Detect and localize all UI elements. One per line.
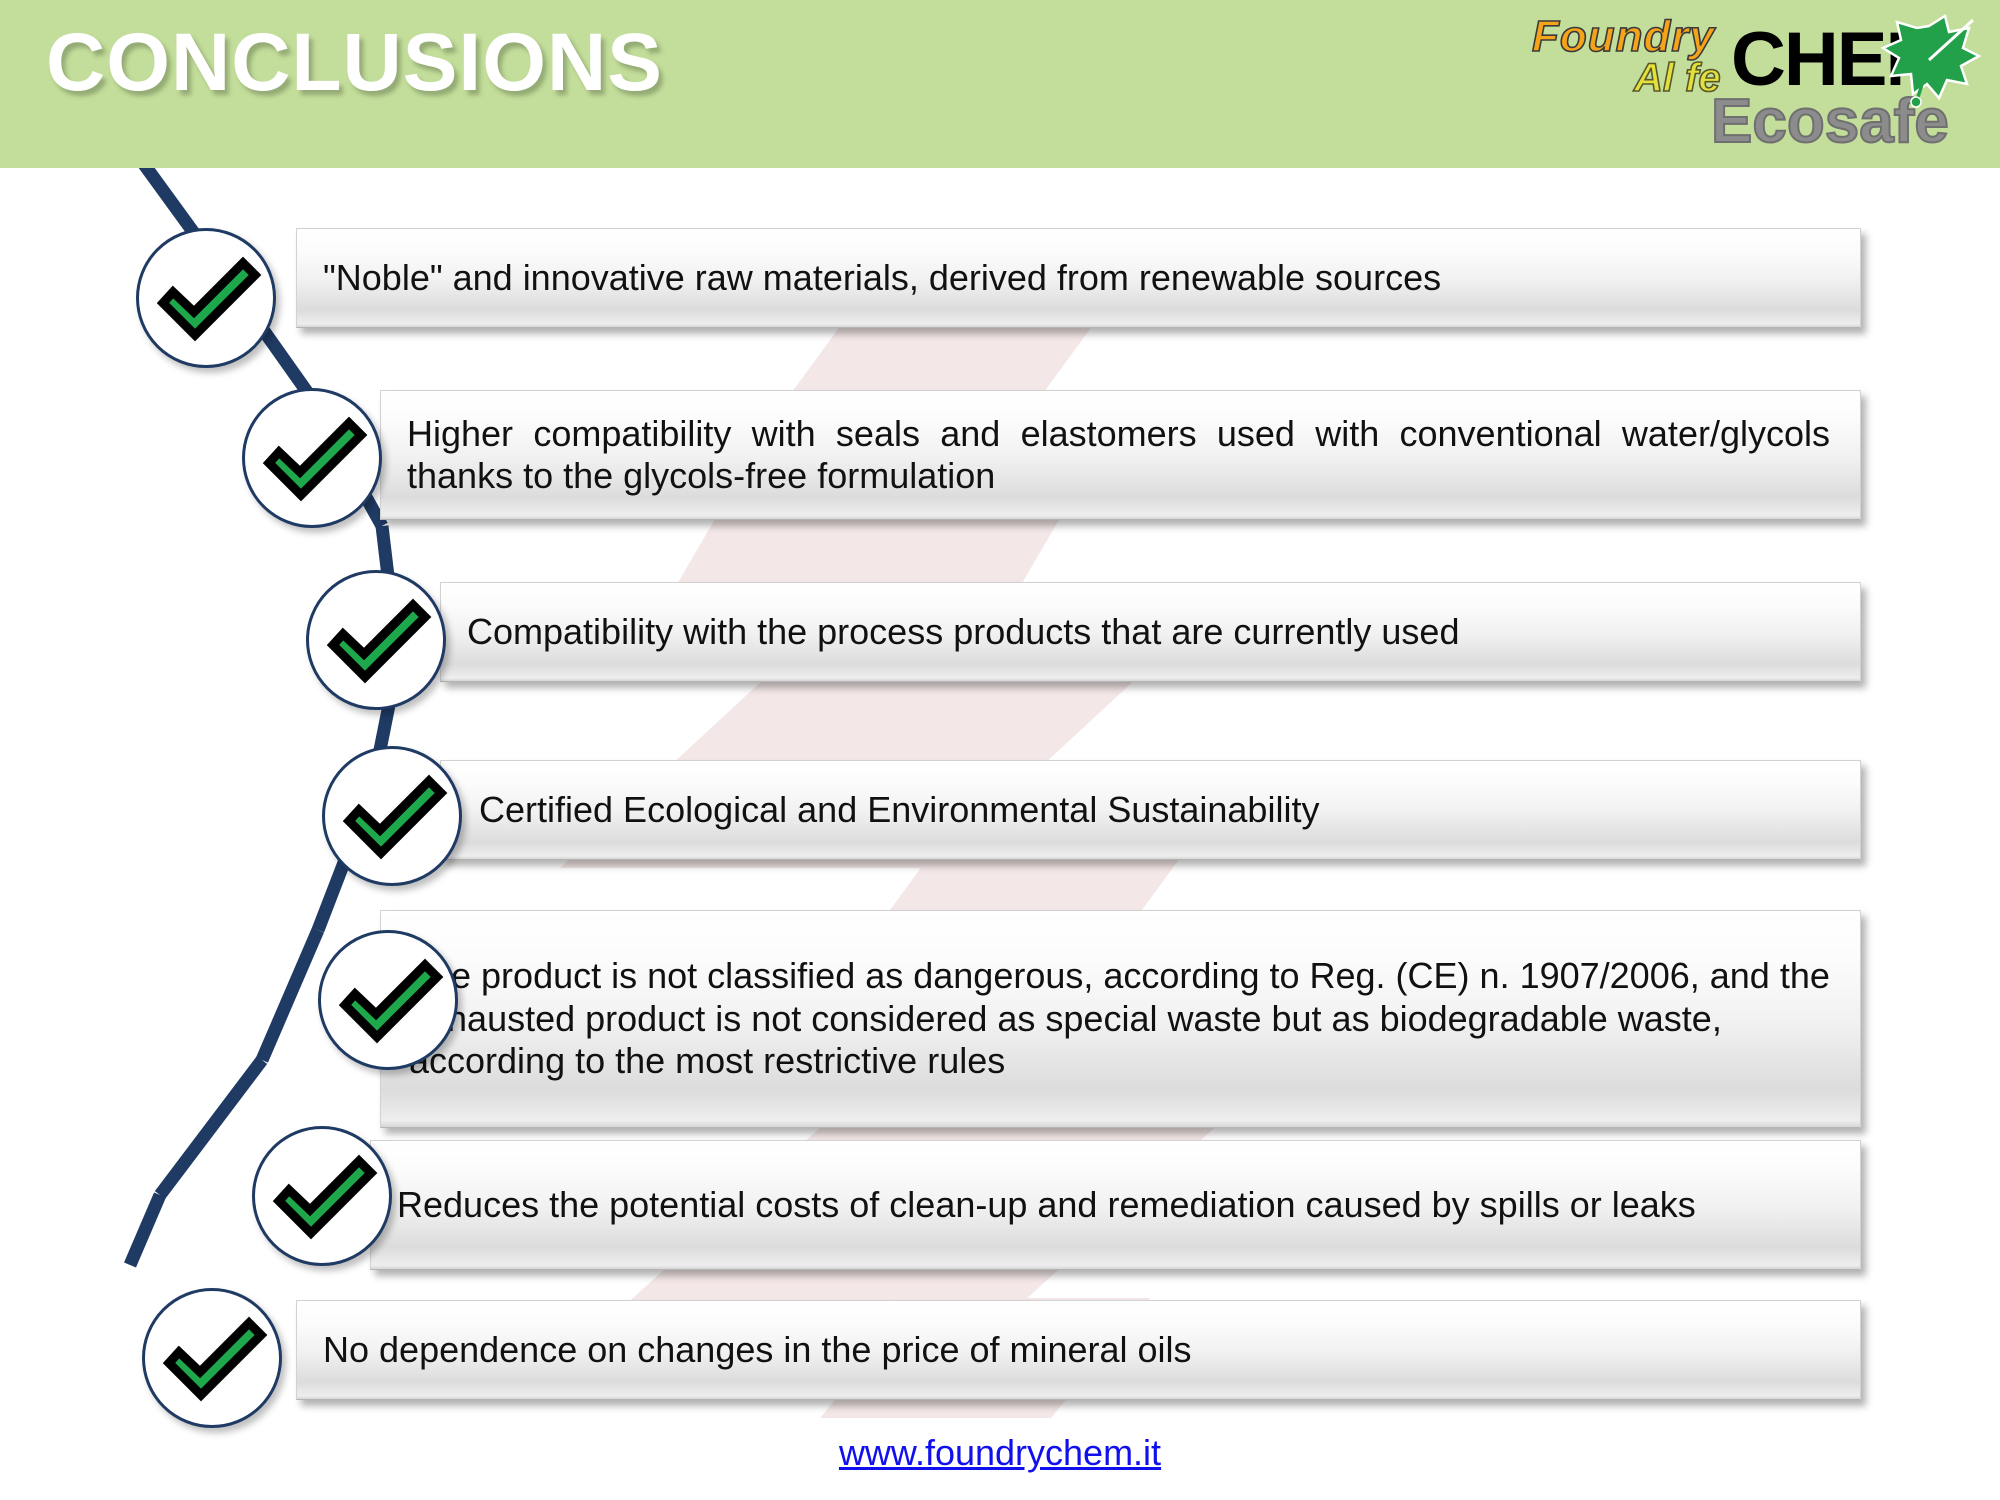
conclusion-bar: No dependence on changes in the price of… — [296, 1300, 1861, 1400]
conclusion-bar: The product is not classified as dangero… — [380, 910, 1861, 1128]
checkmark-circle-2 — [242, 388, 382, 528]
footer-website-url[interactable]: www.foundrychem.it — [839, 1432, 1161, 1473]
check-mark-icon — [325, 749, 459, 883]
ivy-leaf-icon — [1877, 14, 1982, 110]
header-band: CONCLUSIONS Foundry Al fe CHEM Ecosafe — [0, 0, 2000, 168]
checkmark-circle-1 — [136, 228, 276, 368]
conclusion-text: Reduces the potential costs of clean-up … — [397, 1184, 1834, 1226]
slide-root: CONCLUSIONS Foundry Al fe CHEM Ecosafe — [0, 0, 2000, 1500]
check-mark-icon — [255, 1129, 389, 1263]
conclusion-bar: Higher compatibility with seals and elas… — [380, 390, 1861, 520]
logo-foundry-text: Foundry — [1532, 12, 1715, 62]
page-title: CONCLUSIONS — [46, 16, 663, 110]
conclusion-bar: Reduces the potential costs of clean-up … — [370, 1140, 1861, 1270]
checkmark-circle-5 — [318, 930, 458, 1070]
check-mark-icon — [139, 231, 273, 365]
check-mark-icon — [145, 1291, 279, 1425]
checkmark-circle-3 — [306, 570, 446, 710]
brand-logo: Foundry Al fe CHEM Ecosafe — [1516, 4, 1986, 154]
conclusion-text: Higher compatibility with seals and elas… — [407, 413, 1830, 498]
conclusion-text: "Noble" and innovative raw materials, de… — [323, 257, 1834, 299]
conclusion-bar: Certified Ecological and Environmental S… — [440, 760, 1861, 860]
check-mark-icon — [309, 573, 443, 707]
conclusion-bar: Compatibility with the process products … — [440, 582, 1861, 682]
checkmark-circle-7 — [142, 1288, 282, 1428]
checkmark-circle-4 — [322, 746, 462, 886]
check-mark-icon — [321, 933, 455, 1067]
conclusion-text: The product is not classified as dangero… — [409, 955, 1832, 1082]
logo-alfe-text: Al fe — [1634, 56, 1721, 101]
checkmark-circle-6 — [252, 1126, 392, 1266]
check-mark-icon — [245, 391, 379, 525]
conclusion-text: Certified Ecological and Environmental S… — [479, 789, 1834, 831]
conclusion-bar: "Noble" and innovative raw materials, de… — [296, 228, 1861, 328]
footer-website-link[interactable]: www.foundrychem.it — [0, 1432, 2000, 1474]
conclusion-text: Compatibility with the process products … — [467, 611, 1834, 653]
conclusion-text: No dependence on changes in the price of… — [323, 1329, 1834, 1371]
